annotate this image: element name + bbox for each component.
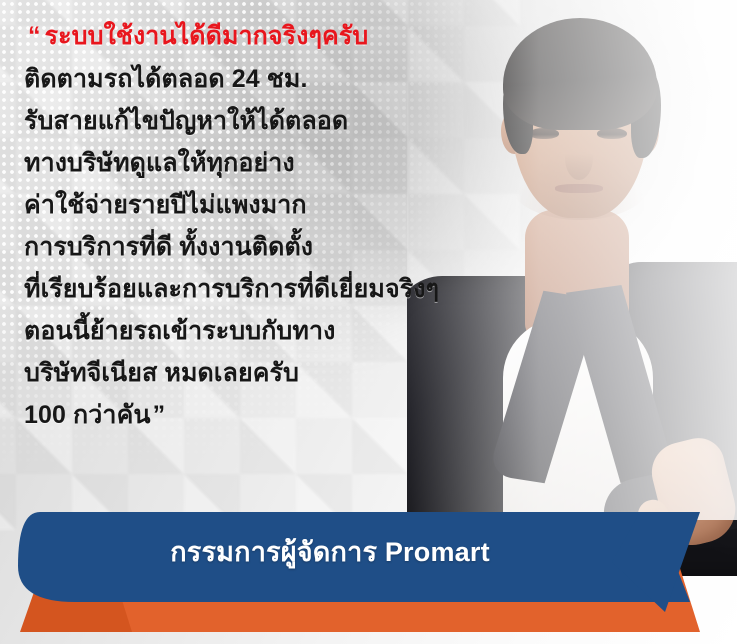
quote-headline-text: ระบบใช้งานได้ดีมากจริงๆครับ [45,22,369,50]
ribbon-blue-plate [18,512,690,602]
quote-line-8: บริษัทจีเนียส หมดเลยครับ [24,352,564,394]
quote-line-4: ค่าใช้จ่ายรายปีไม่แพงมาก [24,184,564,226]
ribbon-shapes [0,500,737,644]
quote-line-7: ตอนนี้ย้ายรถเข้าระบบกับทาง [24,310,564,352]
quote-line-1: ติดตามรถได้ตลอด 24 ชม. [24,58,564,100]
quote-line-2: รับสายแก้ไขปัญหาให้ได้ตลอด [24,100,564,142]
quote-open-mark: “ [28,22,45,50]
quote-line-5: การบริการที่ดี ทั้งงานติดตั้ง [24,226,564,268]
quote-line-9: 100 กว่าคัน” [24,394,564,436]
quote-headline: “ระบบใช้งานได้ดีมากจริงๆครับ [24,14,564,58]
quote-close-mark: ” [151,401,170,429]
testimonial-quote: “ระบบใช้งานได้ดีมากจริงๆครับ ติดตามรถได้… [24,14,564,436]
quote-line-3: ทางบริษัทดูแลให้ทุกอย่าง [24,142,564,184]
quote-line-6: ที่เรียบร้อยและการบริการที่ดีเยี่ยมจริงๆ [24,268,564,310]
quote-line-9-text: 100 กว่าคัน [24,401,151,429]
title-ribbon: กรรมการผู้จัดการ Promart [0,500,737,644]
testimonial-poster: “ระบบใช้งานได้ดีมากจริงๆครับ ติดตามรถได้… [0,0,737,644]
